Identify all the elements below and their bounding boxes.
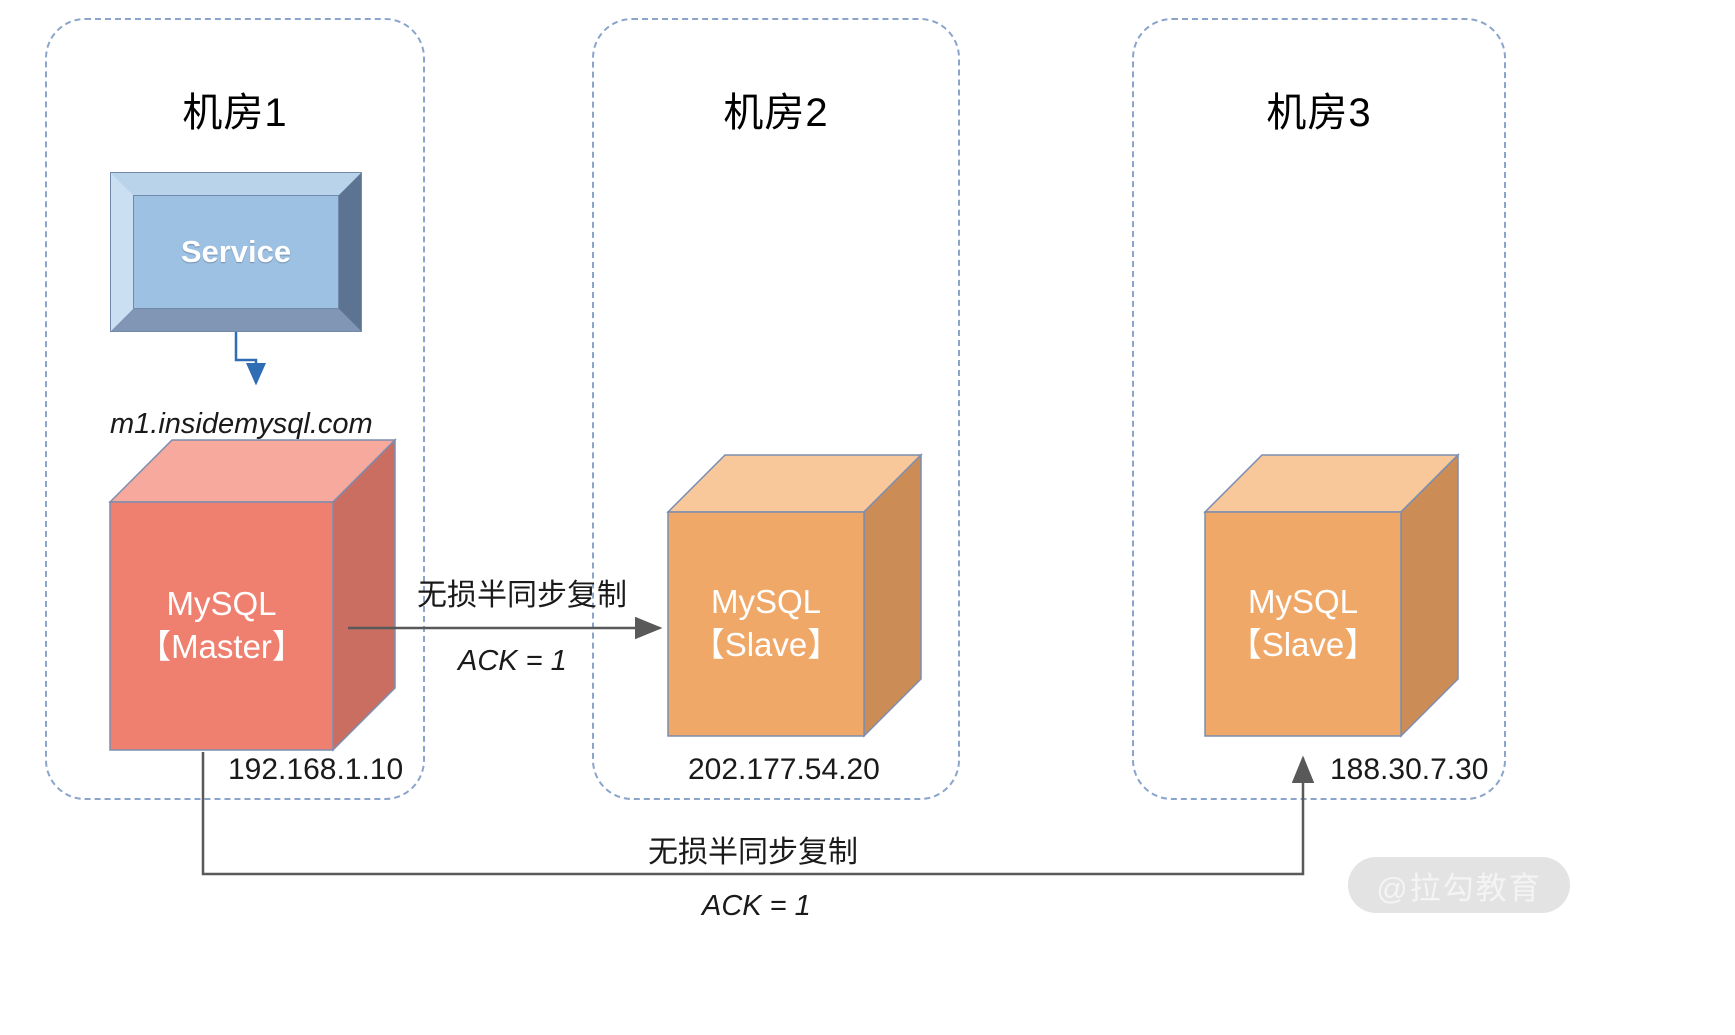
link2-label: 无损半同步复制 xyxy=(648,827,858,871)
link1-sublabel: ACK = 1 xyxy=(458,645,567,678)
diagram-canvas: 机房1 Service m1.insidemysql.com MySQL 【Ma… xyxy=(0,0,1735,1035)
watermark-text: @拉勾教育 xyxy=(1376,863,1541,908)
watermark-badge: @拉勾教育 xyxy=(1348,857,1570,913)
link2-sublabel: ACK = 1 xyxy=(702,890,811,923)
link1-label: 无损半同步复制 xyxy=(417,570,627,614)
service-to-master-arrow xyxy=(236,332,256,383)
